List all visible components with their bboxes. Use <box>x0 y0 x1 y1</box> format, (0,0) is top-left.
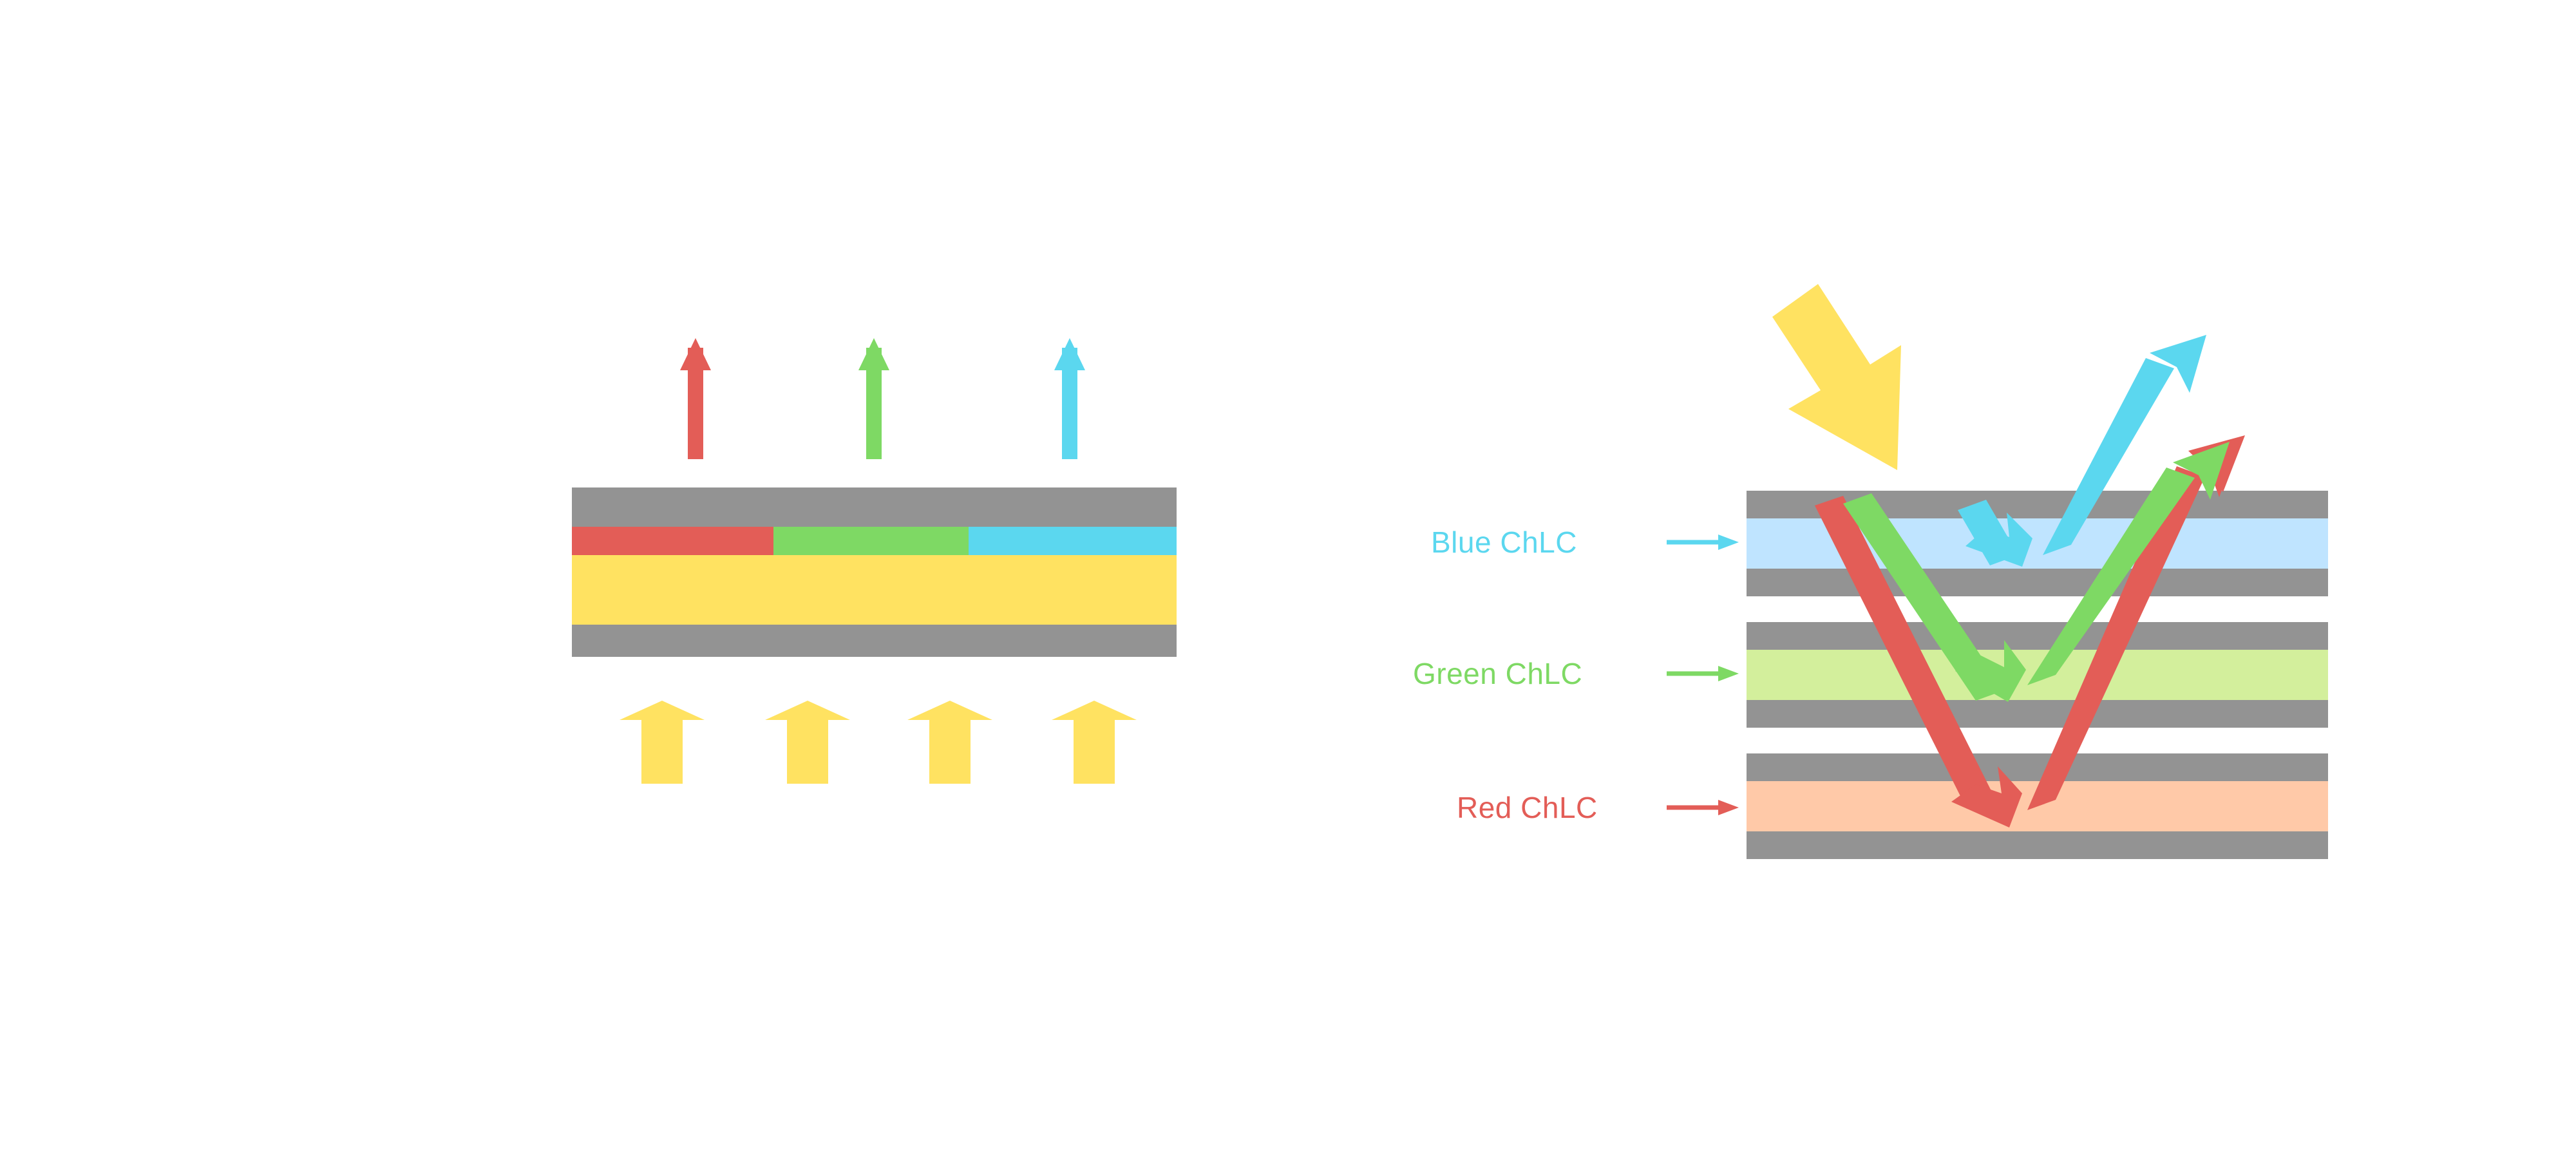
left-top-electrode <box>572 487 1177 527</box>
green-chlc-label-text: Green ChLC <box>1413 657 1582 690</box>
left-bottom-electrode <box>572 625 1177 657</box>
left-green-subpixel <box>773 527 969 555</box>
green-cell-top-electrode <box>1747 622 2328 650</box>
blue-cell-bottom-electrode <box>1747 569 2328 596</box>
red-cell-top-electrode <box>1747 753 2328 781</box>
red-chlc-label-text: Red ChLC <box>1457 791 1598 824</box>
diagram-canvas: Blue ChLC Green ChLC Red ChLC <box>0 0 2576 1154</box>
left-blue-subpixel <box>969 527 1177 555</box>
green-cell-bottom-electrode <box>1747 700 2328 728</box>
red-cell-bottom-electrode <box>1747 831 2328 859</box>
left-backlight-layer <box>572 555 1177 625</box>
blue-chlc-label-text: Blue ChLC <box>1431 525 1577 559</box>
left-red-subpixel <box>572 527 773 555</box>
